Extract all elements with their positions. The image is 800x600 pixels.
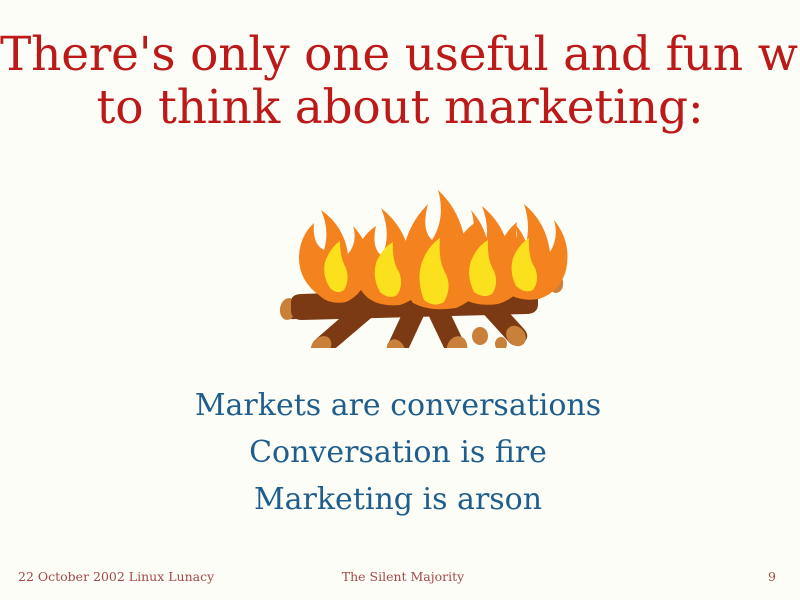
title-line-2: to think about marketing:	[0, 81, 800, 134]
title-line-1: There's only one useful and fun way	[0, 28, 800, 81]
slide: There's only one useful and fun way to t…	[0, 0, 800, 600]
flames-group	[299, 190, 568, 309]
body-line-3: Marketing is arson	[0, 476, 796, 523]
body-text: Markets are conversations Conversation i…	[0, 382, 796, 523]
body-line-1: Markets are conversations	[0, 382, 796, 429]
slide-footer: 22 October 2002 Linux Lunacy The Silent …	[0, 568, 800, 590]
footer-presentation-title: The Silent Majority	[0, 568, 800, 586]
campfire-icon	[258, 168, 568, 348]
slide-page-number: 9	[768, 568, 776, 586]
body-line-2: Conversation is fire	[0, 429, 796, 476]
page-title: There's only one useful and fun way to t…	[0, 28, 800, 134]
